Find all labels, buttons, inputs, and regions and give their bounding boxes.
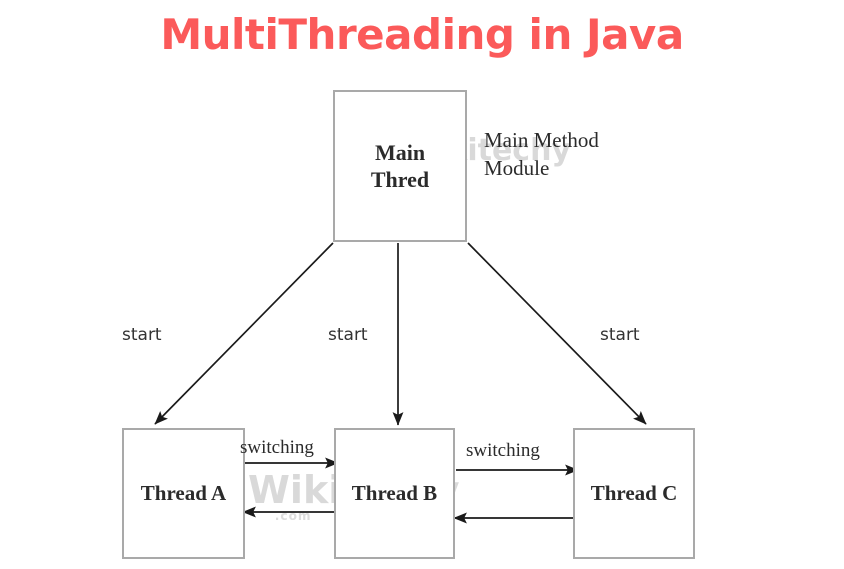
node-thread-a-label: Thread A bbox=[141, 480, 226, 506]
diagram-canvas: MultiThreading in Java Wikitechy Wikitec… bbox=[0, 0, 844, 569]
edge-label-start-thread-a: start bbox=[122, 325, 162, 345]
node-main-thread-label: Main Thred bbox=[371, 139, 429, 194]
node-thread-b-label: Thread B bbox=[352, 480, 437, 506]
node-thread-b[interactable]: Thread B bbox=[334, 428, 455, 559]
edge-label-start-thread-b: start bbox=[328, 325, 368, 345]
edge-label-switching-b-c: switching bbox=[466, 440, 540, 462]
arrow-main-to-thread-a bbox=[155, 243, 333, 424]
annotation-main-method-module: Main Method Module bbox=[484, 126, 599, 183]
node-thread-c-label: Thread C bbox=[591, 480, 678, 506]
node-main-thread[interactable]: Main Thred bbox=[333, 90, 467, 242]
edge-label-switching-a-b: switching bbox=[240, 437, 314, 459]
page-title: MultiThreading in Java bbox=[0, 10, 844, 59]
node-thread-c[interactable]: Thread C bbox=[573, 428, 695, 559]
edge-label-start-thread-c: start bbox=[600, 325, 640, 345]
node-thread-a[interactable]: Thread A bbox=[122, 428, 245, 559]
